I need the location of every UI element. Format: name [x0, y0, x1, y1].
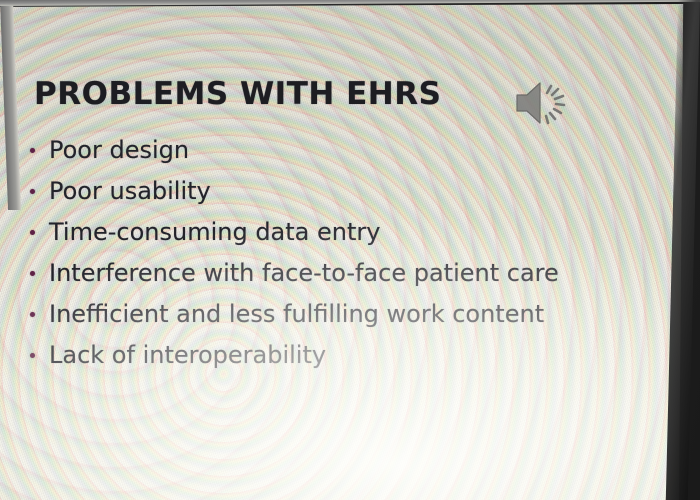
screenshot-stage: PROBLEMS WITH EHRS	[0, 0, 700, 500]
slide-bullet-list: Poor design Poor usability Time-consumin…	[30, 136, 640, 382]
list-item: Inefficient and less fulfilling work con…	[30, 300, 640, 341]
slide-content: PROBLEMS WITH EHRS	[0, 4, 686, 500]
bullet-dot-icon	[30, 189, 35, 194]
list-item: Time-consuming data entry	[30, 218, 640, 259]
bullet-dot-icon	[30, 312, 35, 317]
list-item: Poor design	[30, 136, 640, 177]
bullet-dot-icon	[30, 148, 35, 153]
list-item: Interference with face-to-face patient c…	[30, 259, 640, 300]
display-screen: PROBLEMS WITH EHRS	[0, 4, 686, 500]
bullet-text: Interference with face-to-face patient c…	[49, 259, 559, 287]
bullet-text: Poor design	[49, 136, 189, 164]
bullet-text: Poor usability	[49, 177, 211, 205]
bullet-text: Time-consuming data entry	[49, 218, 380, 246]
list-item: Lack of interoperability	[30, 341, 640, 382]
bullet-dot-icon	[30, 271, 35, 276]
bullet-text: Inefficient and less fulfilling work con…	[49, 300, 544, 328]
bullet-text: Lack of interoperability	[49, 341, 326, 369]
list-item: Poor usability	[30, 177, 640, 218]
bullet-dot-icon	[30, 353, 35, 358]
slide-title: PROBLEMS WITH EHRS	[34, 76, 441, 112]
speaker-icon[interactable]	[513, 80, 571, 126]
bullet-dot-icon	[30, 230, 35, 235]
